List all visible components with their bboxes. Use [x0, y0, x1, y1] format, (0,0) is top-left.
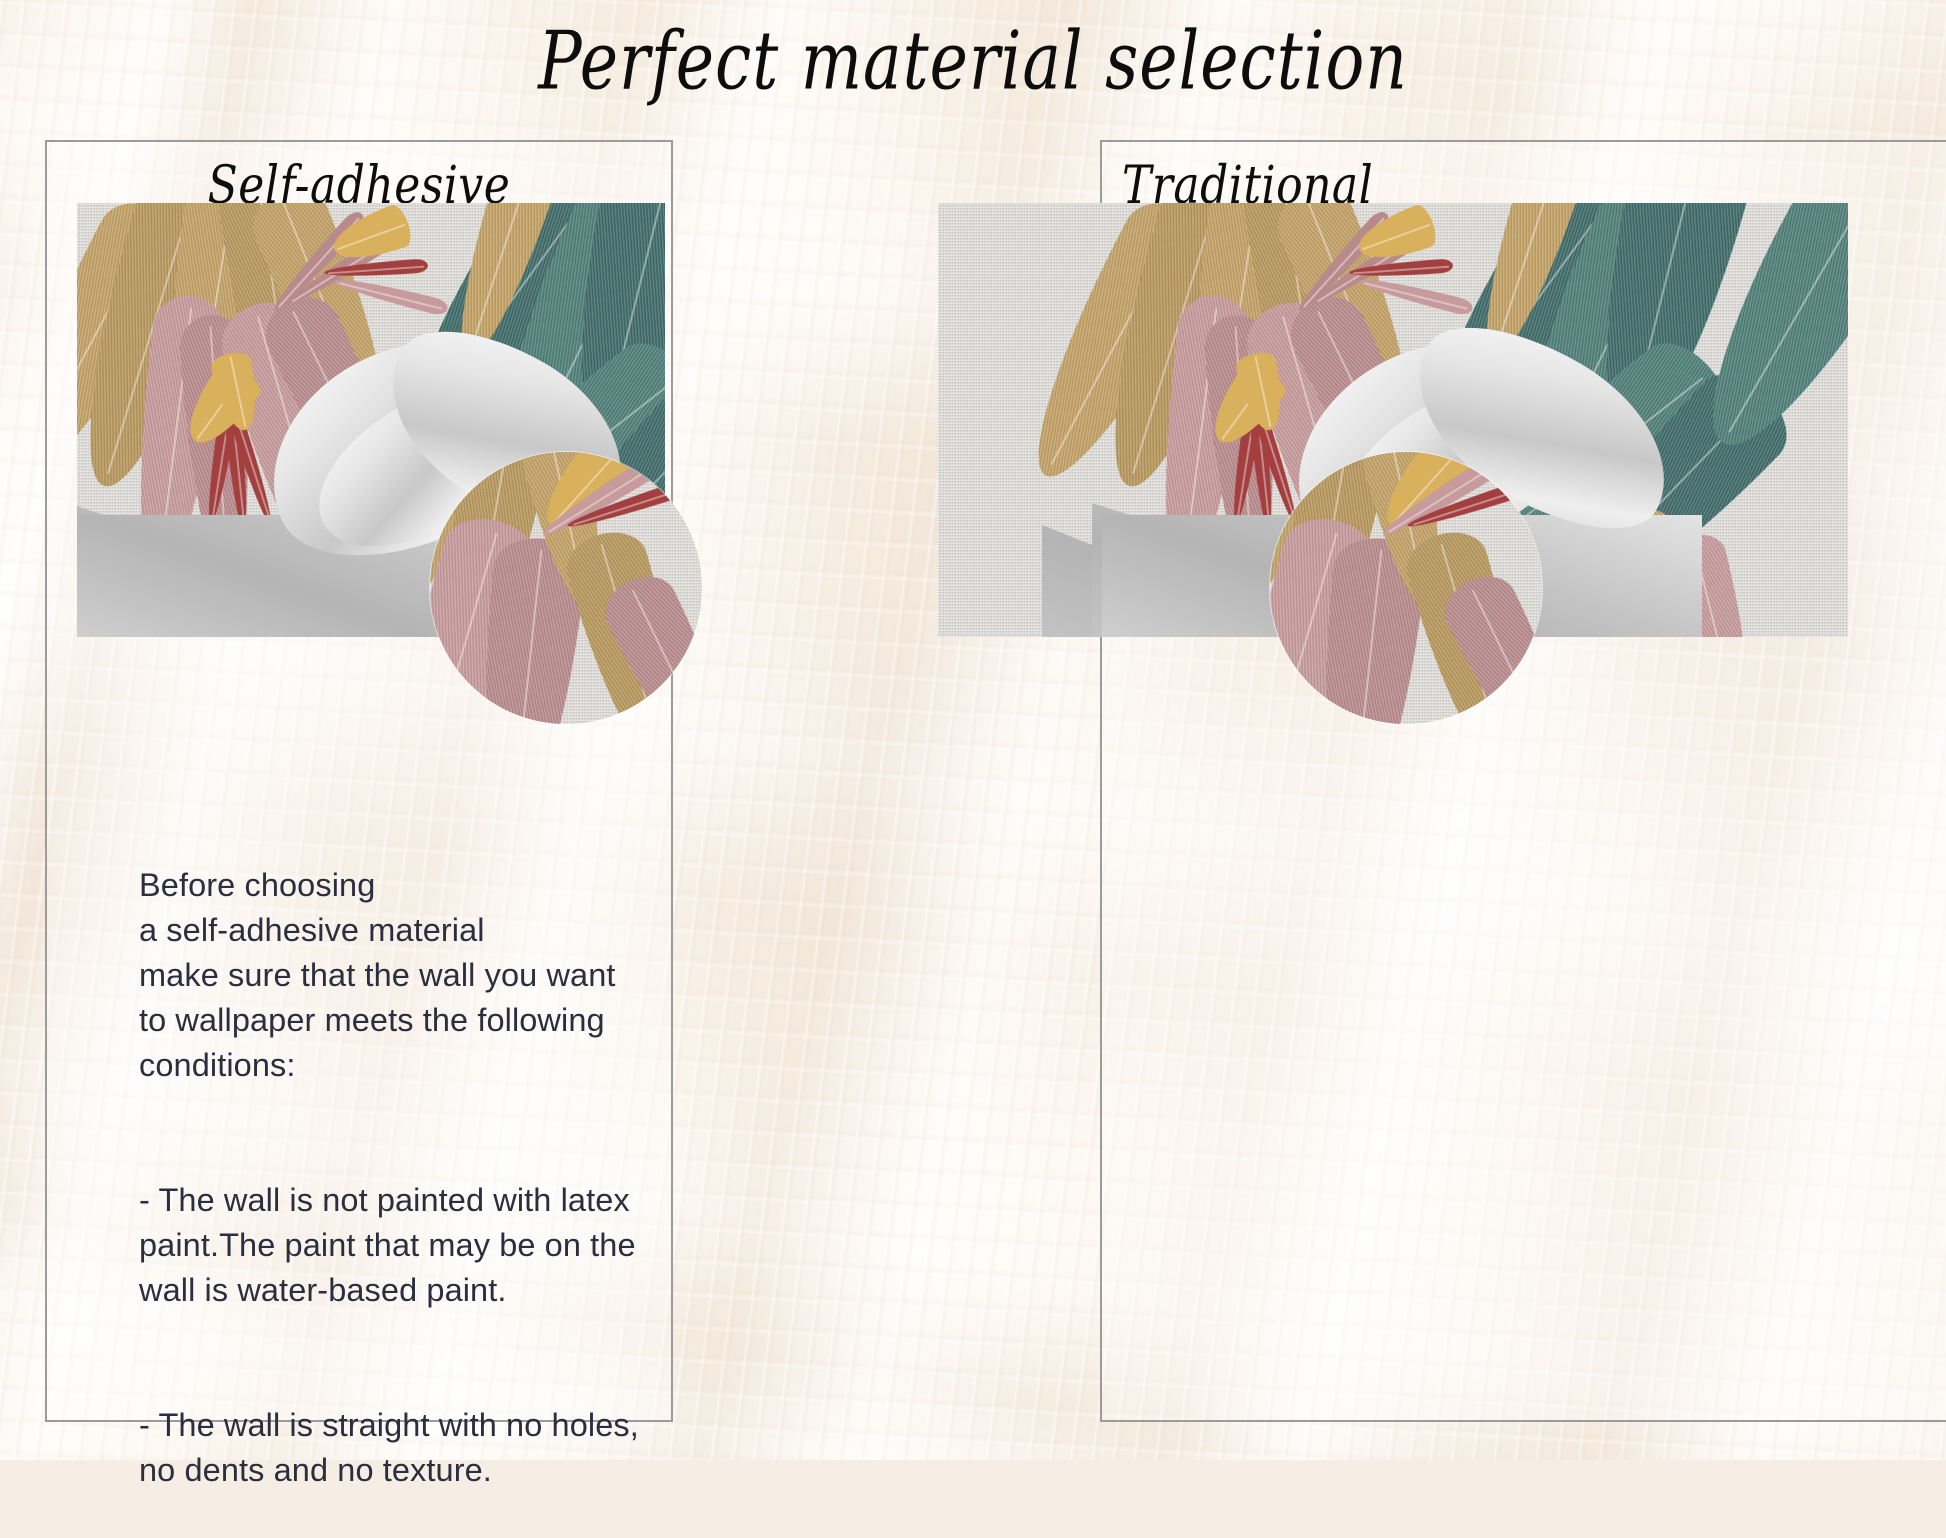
copy-self-adhesive: Before choosing a self-adhesive material… [139, 818, 679, 1538]
paragraph: - The wall is not painted with latex pai… [139, 1178, 679, 1313]
panel-self-adhesive: Self-adhesive [45, 140, 673, 1422]
page-title: Perfect material selection [19, 14, 1926, 108]
panel-traditional: Traditional [1100, 140, 1946, 1422]
paragraph: Before choosing a self-adhesive material… [139, 863, 679, 1088]
detail-circle-traditional [1270, 452, 1542, 724]
paragraph: - The wall is straight with no holes, no… [139, 1403, 679, 1493]
detail-circle-self-adhesive [430, 452, 702, 724]
